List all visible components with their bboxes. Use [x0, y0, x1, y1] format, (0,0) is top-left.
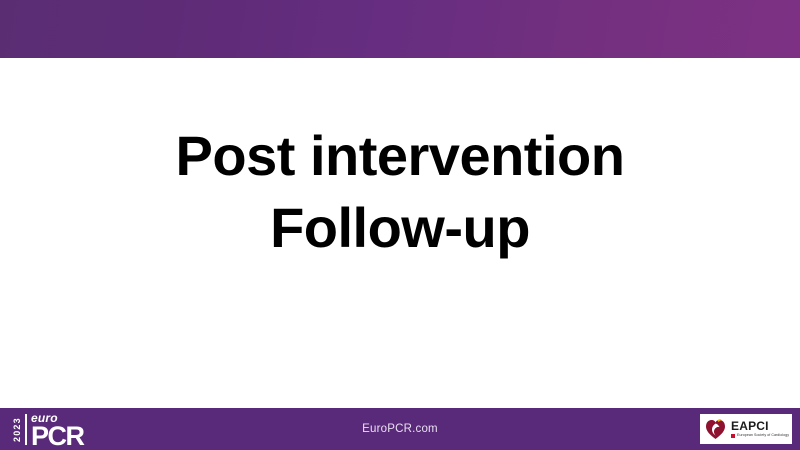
eapci-logo-subtitle: European Society of Cardiology	[731, 434, 789, 438]
eapci-logo: EAPCI European Society of Cardiology	[700, 414, 792, 444]
heart-icon	[705, 419, 726, 440]
eapci-logo-name: EAPCI	[731, 420, 789, 432]
title-line-1: Post intervention	[0, 120, 800, 192]
title-line-2: Follow-up	[0, 192, 800, 264]
eapci-logo-text: EAPCI European Society of Cardiology	[731, 420, 789, 439]
page-title: Post intervention Follow-up	[0, 120, 800, 263]
footer-website-label: EuroPCR.com	[0, 408, 800, 450]
top-decorative-band	[0, 0, 800, 58]
eapci-logo-subtitle-text: European Society of Cardiology	[737, 434, 789, 438]
presentation-slide: Post intervention Follow-up 2023 euro PC…	[0, 0, 800, 450]
esc-mark-icon	[731, 434, 735, 438]
slide-footer: 2023 euro PCR EuroPCR.com EAPCI	[0, 408, 800, 450]
